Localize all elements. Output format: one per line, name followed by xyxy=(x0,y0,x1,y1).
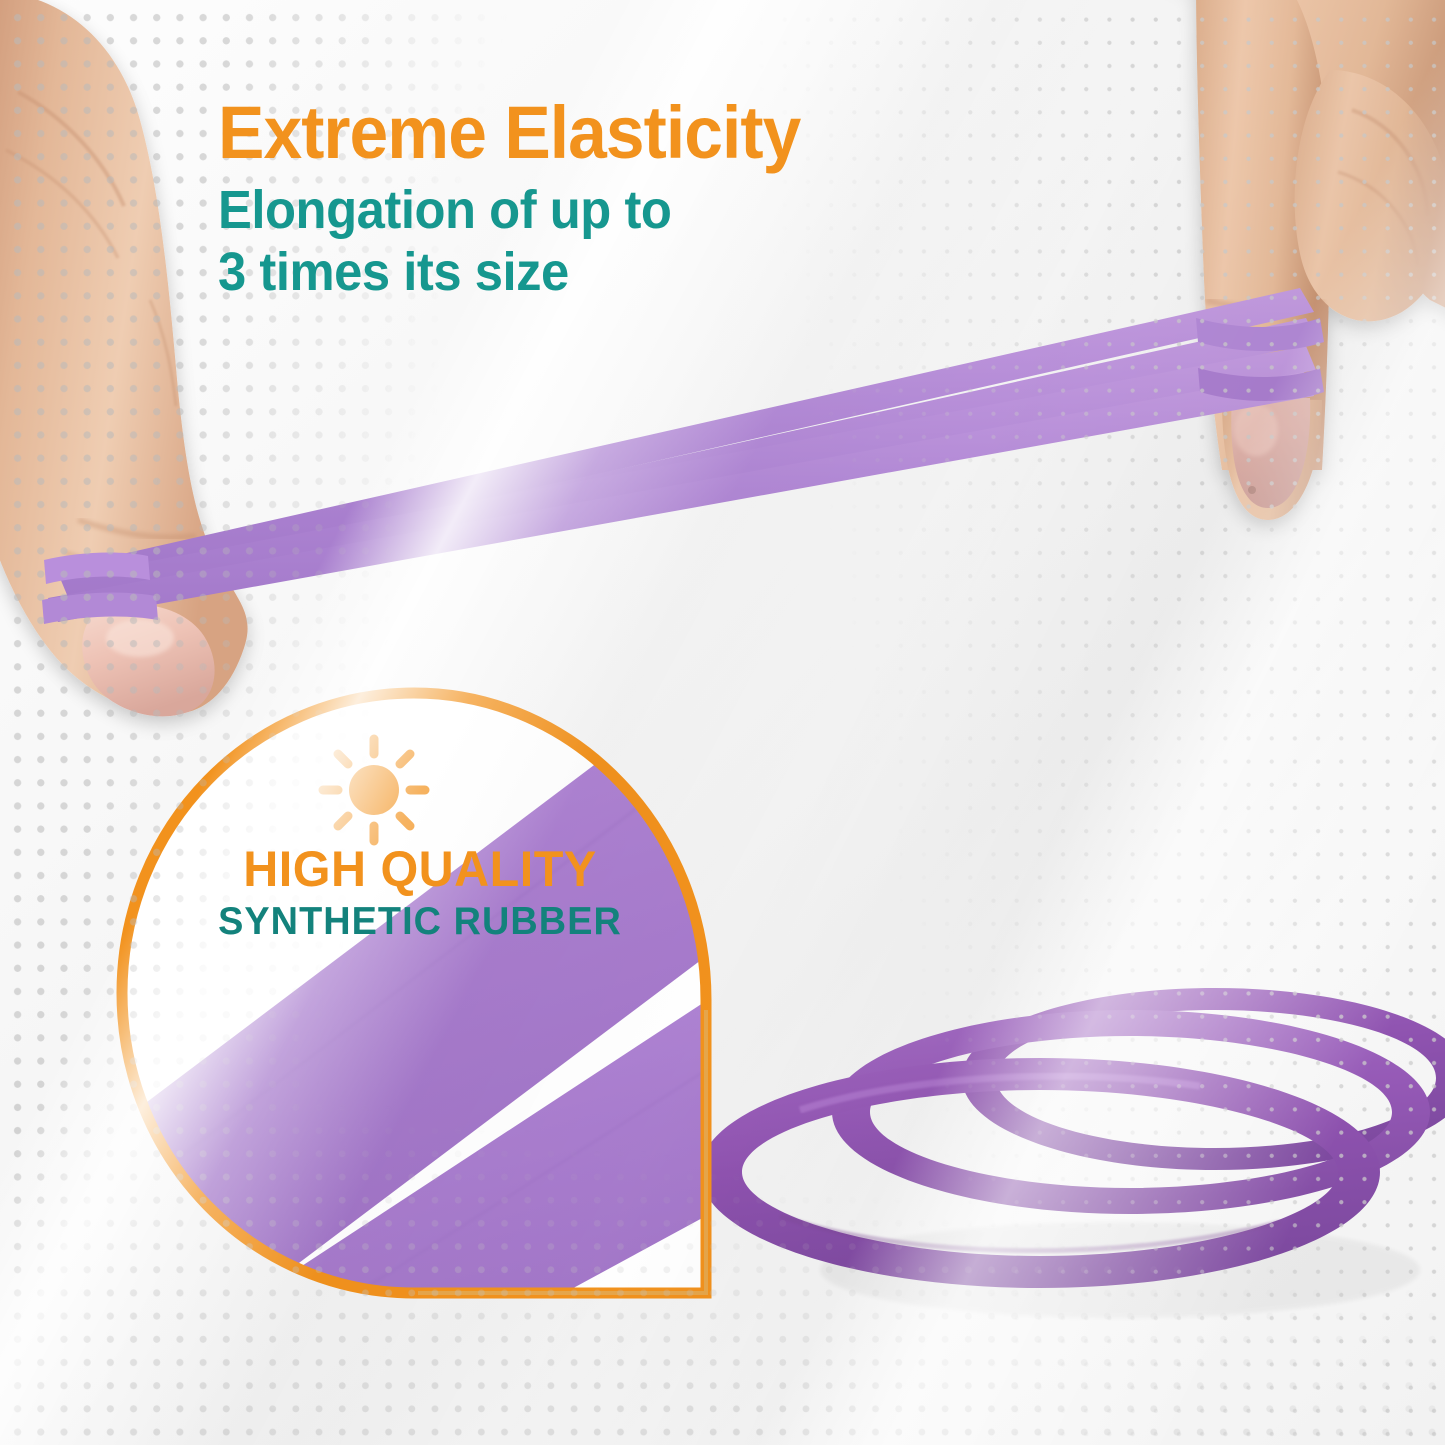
headline-title: Extreme Elasticity xyxy=(218,96,1064,170)
loose-rubber-bands-photo xyxy=(700,988,1445,1318)
headline-block: Extreme Elasticity Elongation of up to 3… xyxy=(218,96,1118,303)
headline-subtitle: Elongation of up to 3 times its size xyxy=(218,180,1064,303)
right-hand-photo xyxy=(1148,0,1445,520)
headline-subtitle-line-2: 3 times its size xyxy=(218,242,1064,304)
headline-subtitle-line-1: Elongation of up to xyxy=(218,180,1064,242)
stretched-rubber-bands xyxy=(42,288,1324,624)
product-feature-image: Extreme Elasticity Elongation of up to 3… xyxy=(0,0,1445,1445)
sun-icon xyxy=(323,739,425,841)
quality-badge xyxy=(70,640,992,1420)
